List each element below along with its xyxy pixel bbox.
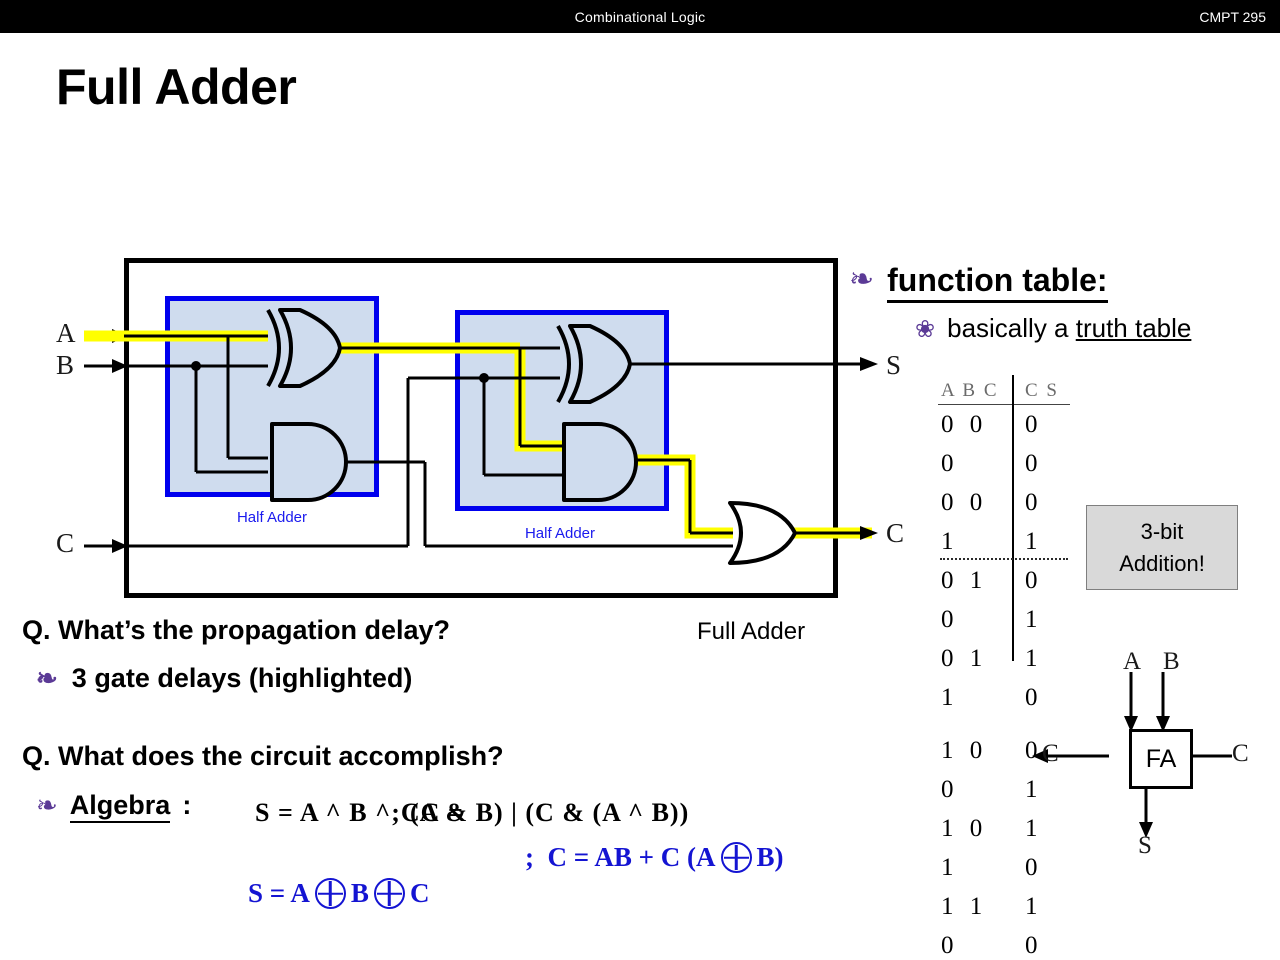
three-bit-addition-callout: 3-bit Addition! xyxy=(1086,505,1238,590)
truth-table-dotted-marker xyxy=(940,558,1068,560)
row-inputs: 0 0 1 xyxy=(938,483,1015,561)
row-outputs: 0 1 xyxy=(1015,483,1070,561)
callout-line-1: 3-bit xyxy=(1141,519,1184,545)
algebra-expression-sum-blue: S = A B C xyxy=(248,878,429,909)
row-outputs: 1 0 xyxy=(1015,887,1070,960)
algebra-colon: : xyxy=(182,790,191,821)
xor-gate-2 xyxy=(558,326,630,402)
algebra-expression-carry-black: (A & B) | (C & (A ^ B)) xyxy=(410,798,689,828)
subtext-prefix: basically a xyxy=(947,313,1076,343)
row-inputs: 0 1 1 xyxy=(938,639,1015,717)
table-row: 0 0 1 0 1 xyxy=(938,483,1070,561)
row-outputs: 0 0 xyxy=(1015,405,1070,483)
callout-line-2: Addition! xyxy=(1119,551,1205,577)
answer-1-row: ❧ 3 gate delays (highlighted) xyxy=(36,663,412,694)
fa-carry-out-label: C xyxy=(1042,740,1059,768)
ribbon-bullet-icon: ❧ xyxy=(849,265,874,295)
fa-input-a-label: A xyxy=(1123,648,1141,676)
or-gate-carry xyxy=(730,503,795,563)
xor-gate-1 xyxy=(268,310,340,386)
question-1: Q. What’s the propagation delay? xyxy=(22,615,450,646)
row-inputs: 1 0 1 xyxy=(938,809,1015,887)
carry-blue-suffix: B) xyxy=(757,842,784,873)
fa-carry-in-label: C xyxy=(1232,740,1249,768)
row-inputs: 0 1 0 xyxy=(938,561,1015,639)
fa-input-b-label: B xyxy=(1163,648,1180,676)
flower-bullet-icon: ❀ xyxy=(915,318,935,342)
ribbon-bullet-icon: ❧ xyxy=(36,663,58,694)
algebra-label: Algebra xyxy=(70,790,171,823)
truth-table-divider xyxy=(1012,375,1014,661)
sum-blue-suffix: C xyxy=(410,878,430,909)
half-adder-label-2: Half Adder xyxy=(453,525,667,542)
table-row: 0 1 0 0 1 xyxy=(938,561,1070,639)
function-table-heading: function table: xyxy=(887,262,1107,303)
ribbon-bullet-icon: ❧ xyxy=(36,790,58,821)
question-2: Q. What does the circuit accomplish? xyxy=(22,741,504,772)
output-label-s: S xyxy=(886,350,901,381)
xor-symbol-icon xyxy=(315,878,346,909)
table-row: 0 0 0 0 0 xyxy=(938,405,1070,483)
row-inputs: 0 0 0 xyxy=(938,405,1015,483)
fa-block-diagram: A B C C S FA xyxy=(1020,640,1270,870)
half-adder-label-1: Half Adder xyxy=(165,509,379,526)
xor-symbol-icon xyxy=(721,842,752,873)
row-inputs: 1 1 0 xyxy=(938,887,1015,960)
output-label-carry: C xyxy=(886,518,904,549)
algebra-expression-carry-blue: ; C = AB + C (A B) xyxy=(525,842,784,873)
function-table-subtext: basically a truth table xyxy=(947,313,1191,344)
function-table-heading-row: ❧ function table: xyxy=(849,262,1108,303)
truth-table-header-outputs: C S xyxy=(1015,380,1070,402)
answer-1-text: 3 gate delays (highlighted) xyxy=(72,663,413,694)
and-gate-2 xyxy=(564,424,636,500)
xor-symbol-icon xyxy=(374,878,405,909)
and-gate-1 xyxy=(272,424,346,500)
row-inputs: 1 0 0 xyxy=(938,731,1015,809)
input-label-a: A xyxy=(56,318,76,349)
truth-table-header-inputs: A B C xyxy=(938,380,1015,402)
truth-table-header: A B C C S xyxy=(938,380,1070,405)
subtext-underlined: truth table xyxy=(1076,313,1192,343)
algebra-row: ❧ Algebra : xyxy=(36,790,191,823)
input-label-c: C xyxy=(56,528,74,559)
slide-root: Combinational Logic CMPT 295 Full Adder xyxy=(0,0,1280,960)
fa-sum-label: S xyxy=(1138,832,1152,860)
sum-blue-prefix: S = A xyxy=(248,878,310,909)
function-table-subrow: ❀ basically a truth table xyxy=(915,313,1191,344)
row-outputs: 0 1 xyxy=(1015,561,1070,639)
table-row: 1 1 0 1 0 xyxy=(938,887,1070,960)
fa-block-box: FA xyxy=(1129,729,1193,789)
sum-blue-mid: B xyxy=(351,878,369,909)
input-label-b: B xyxy=(56,350,74,381)
carry-blue-prefix: ; C = AB + C (A xyxy=(525,842,716,873)
full-adder-caption: Full Adder xyxy=(697,618,805,646)
